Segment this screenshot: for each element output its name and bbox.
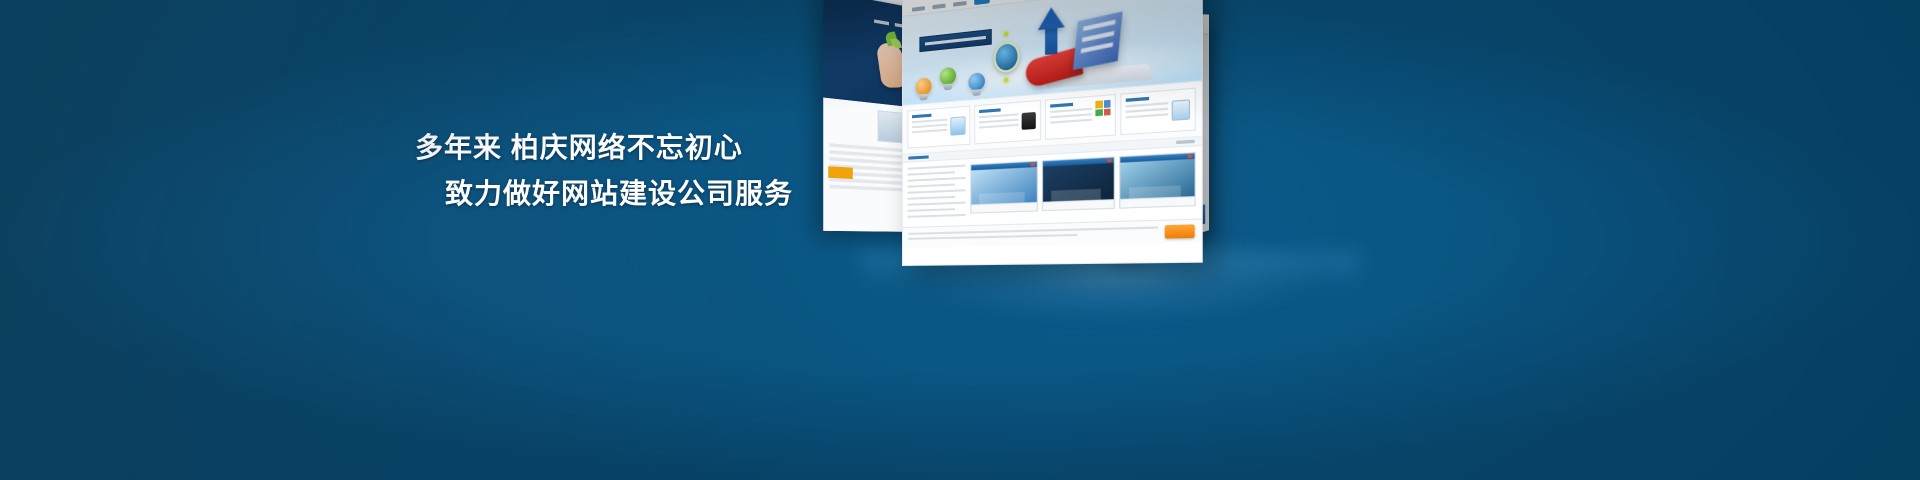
section-title-bar <box>908 155 928 159</box>
globe-icon-green <box>940 67 956 86</box>
card-icon-phone <box>1022 112 1036 130</box>
hero-title-badge <box>919 29 991 52</box>
blue-arrow-icon <box>1038 6 1065 30</box>
nav-active-item <box>974 0 990 5</box>
feature-card[interactable] <box>1045 94 1116 140</box>
globe-icon-blue <box>968 72 984 91</box>
center-website-mockup[interactable] <box>902 0 1203 266</box>
news-list[interactable] <box>907 165 965 222</box>
blue-arrow-stem <box>1045 26 1057 55</box>
accent-dot-3 <box>1004 77 1009 83</box>
portfolio-thumbnails <box>970 152 1195 220</box>
portfolio-item[interactable] <box>1119 152 1196 209</box>
card-icon-grid <box>1095 100 1110 116</box>
accent-dot-1 <box>1004 31 1009 37</box>
feature-card[interactable] <box>974 100 1041 145</box>
website-mockup-showcase <box>820 0 1440 320</box>
section-more-link <box>1176 140 1194 144</box>
hero-banner: 多年来 柏庆网络不忘初心 致力做好网站建设公司服务 <box>0 0 1920 480</box>
portfolio-item[interactable] <box>970 161 1038 214</box>
portfolio-item[interactable] <box>1042 156 1114 211</box>
blue-cube-icon <box>1073 11 1123 70</box>
person-badge-icon <box>994 41 1020 74</box>
left-mockup-tag <box>828 166 853 179</box>
footer-cta-button[interactable] <box>1165 224 1195 238</box>
card-icon-document <box>950 116 965 136</box>
feature-card[interactable] <box>1120 88 1196 136</box>
card-icon-monitor <box>1172 99 1190 121</box>
globe-icon-orange <box>916 77 932 96</box>
feature-card[interactable] <box>907 106 970 149</box>
